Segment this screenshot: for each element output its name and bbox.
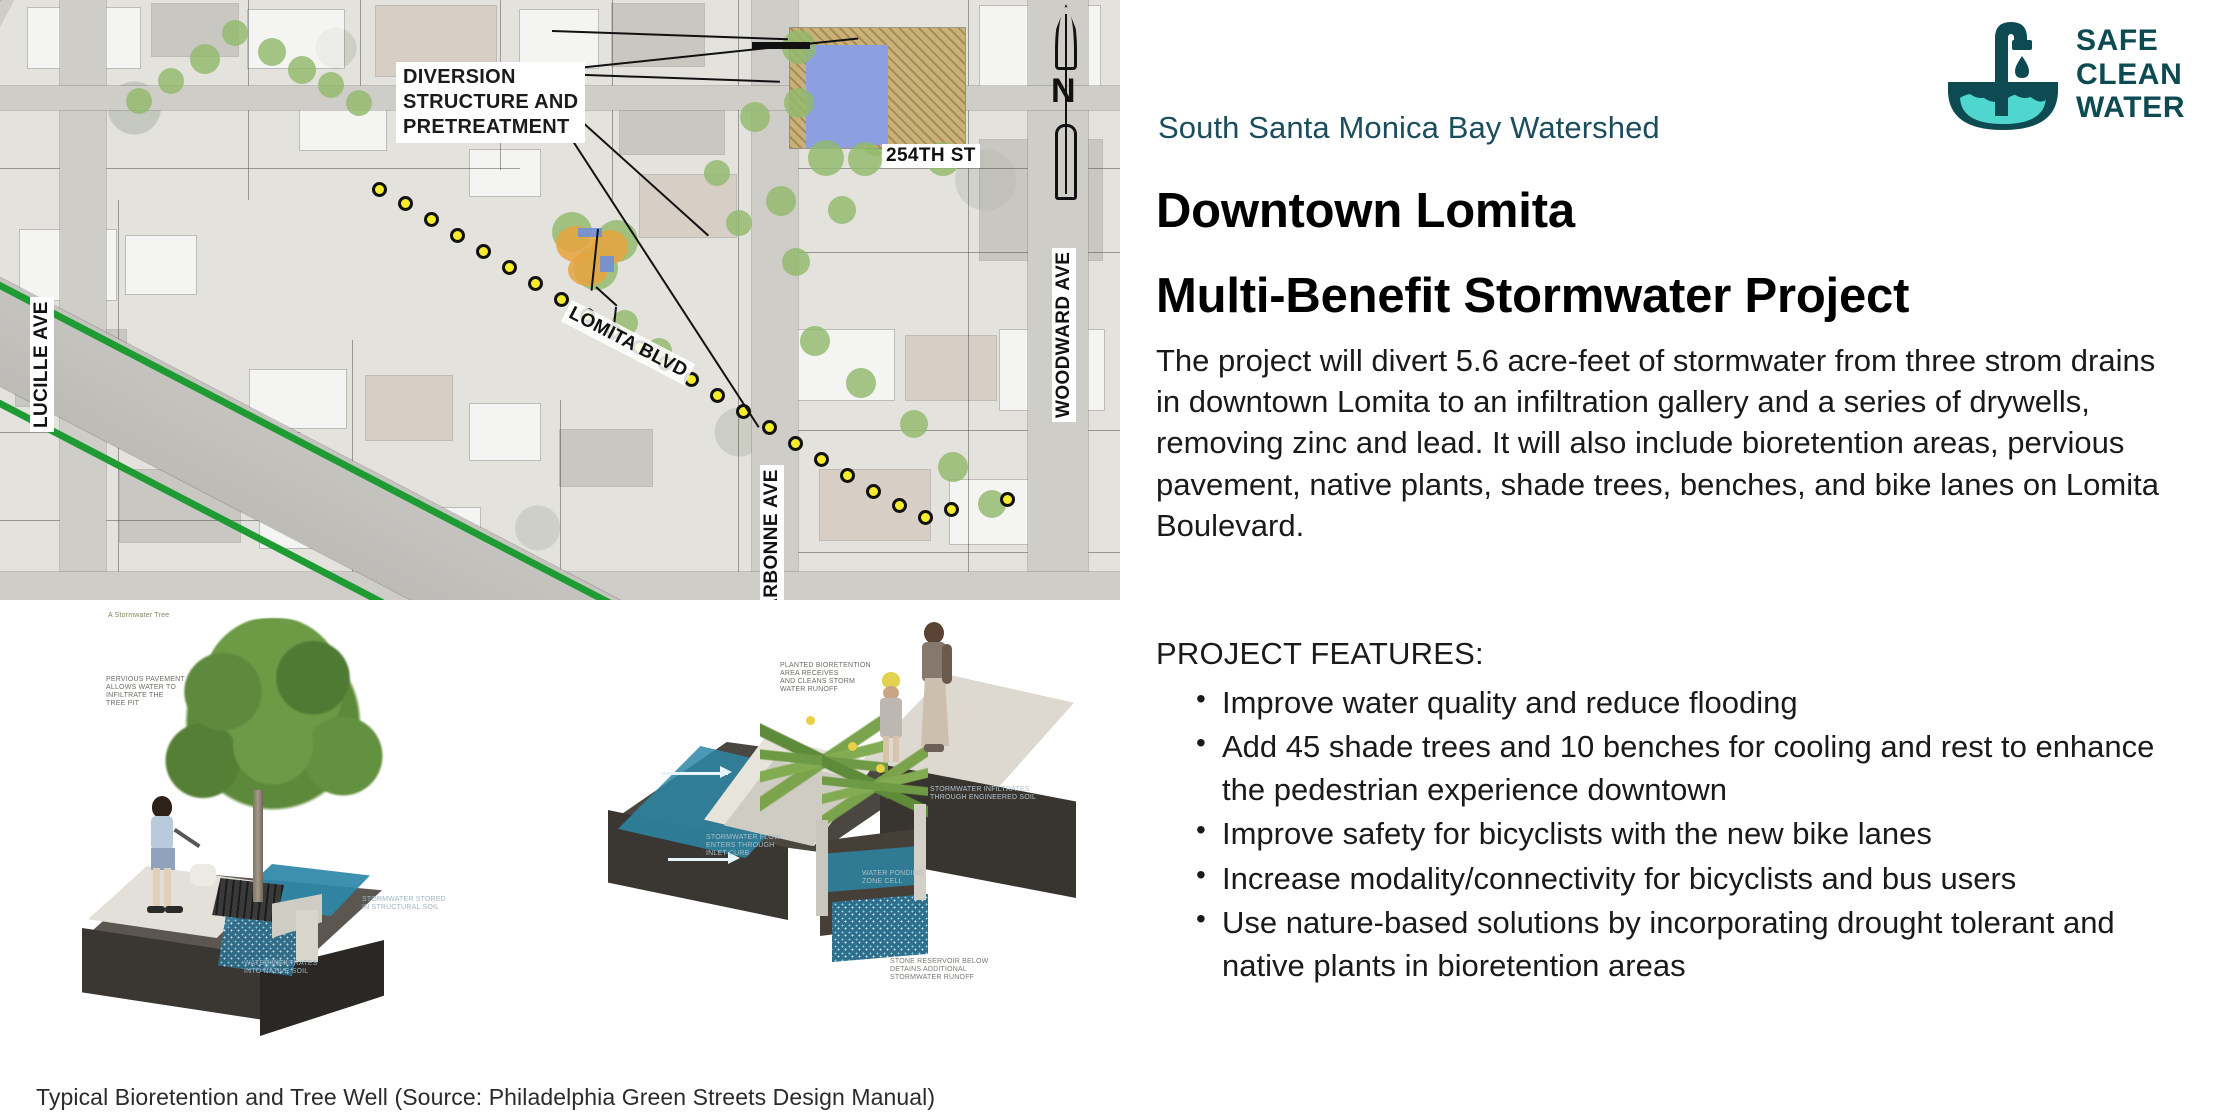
pedestrian-figure (138, 796, 196, 926)
project-fact-sheet: DIVERSION STRUCTURE AND PRETREATMENT LUC… (0, 0, 2240, 1120)
list-item: Improve safety for bicyclists with the n… (1192, 813, 2172, 855)
bioretention-figures: A Stormwater Tree (0, 600, 1120, 1120)
child-pedestrian-figure (874, 672, 914, 772)
figure-left-anno-mid: STORMWATER STORED IN STRUCTURAL SOIL (362, 896, 446, 912)
figure-right-anno-bottom: STONE RESERVOIR BELOW DETAINS ADDITIONAL… (890, 958, 988, 982)
figure-caption: Typical Bioretention and Tree Well (Sour… (36, 1084, 935, 1111)
logo-wordmark: SAFE CLEAN WATER (2076, 24, 2185, 125)
logo-line-1: SAFE (2076, 24, 2185, 58)
watershed-name: South Santa Monica Bay Watershed (1158, 110, 1660, 146)
logo-line-2: CLEAN (2076, 58, 2185, 92)
figure-left-anno-top: PERVIOUS PAVEMENT ALLOWS WATER TO INFILT… (106, 676, 185, 708)
stone-reservoir (832, 894, 928, 962)
safe-clean-water-logo: SAFE CLEAN WATER (1940, 16, 2224, 136)
list-item: Improve water quality and reduce floodin… (1192, 682, 2172, 724)
north-letter: N (1051, 72, 1076, 111)
figure-bioretention-cell: PLANTED BIORETENTION AREA RECEIVES AND C… (608, 614, 1078, 1054)
map-street-label-254th: 254TH ST (882, 144, 980, 168)
map-street-label-woodward: WOODWARD AVE (1052, 248, 1076, 422)
figure-right-anno-left: STORMWATER FLOW ENTERS THROUGH INLET CUR… (706, 834, 781, 858)
map-street-label-lucille: LUCILLE AVE (30, 297, 54, 432)
project-description: The project will divert 5.6 acre-feet of… (1156, 340, 2164, 546)
figure-right-anno-top: PLANTED BIORETENTION AREA RECEIVES AND C… (780, 662, 871, 694)
map-street-label-narbonne: NARBONNE AVE (760, 465, 784, 600)
project-features-heading: PROJECT FEATURES: (1156, 636, 1484, 672)
figure-right-anno-mid: STORMWATER INFILTRATES THROUGH ENGINEERE… (930, 786, 1036, 802)
right-column: South Santa Monica Bay Watershed Downtow… (1120, 0, 2240, 1120)
list-item: Add 45 shade trees and 10 benches for co… (1192, 726, 2172, 811)
adult-pedestrian-figure (908, 622, 962, 768)
figure-left-anno-bottom: WATER INFILTRATES INTO NATIVE SOIL (244, 960, 318, 976)
faucet-over-basin-icon (1940, 16, 2066, 134)
map-callout-diversion: DIVERSION STRUCTURE AND PRETREATMENT (396, 62, 585, 143)
list-item: Use nature-based solutions by incorporat… (1192, 902, 2172, 987)
logo-line-3: WATER (2076, 91, 2185, 125)
figure-left-label: A Stormwater Tree (108, 612, 169, 620)
north-arrow-icon: N (1044, 4, 1088, 200)
figure-right-anno-pond: WATER PONDING ZONE CELL (862, 870, 924, 886)
left-column: DIVERSION STRUCTURE AND PRETREATMENT LUC… (0, 0, 1120, 1120)
page-title-line1: Downtown Lomita (1156, 183, 1575, 239)
page-title-line2: Multi-Benefit Stormwater Project (1156, 268, 1909, 324)
list-item: Increase modality/connectivity for bicyc… (1192, 858, 2172, 900)
figure-stormwater-tree-well: A Stormwater Tree (60, 610, 480, 1060)
project-site-map[interactable]: DIVERSION STRUCTURE AND PRETREATMENT LUC… (0, 0, 1120, 600)
project-features-list: Improve water quality and reduce floodin… (1192, 682, 2172, 989)
